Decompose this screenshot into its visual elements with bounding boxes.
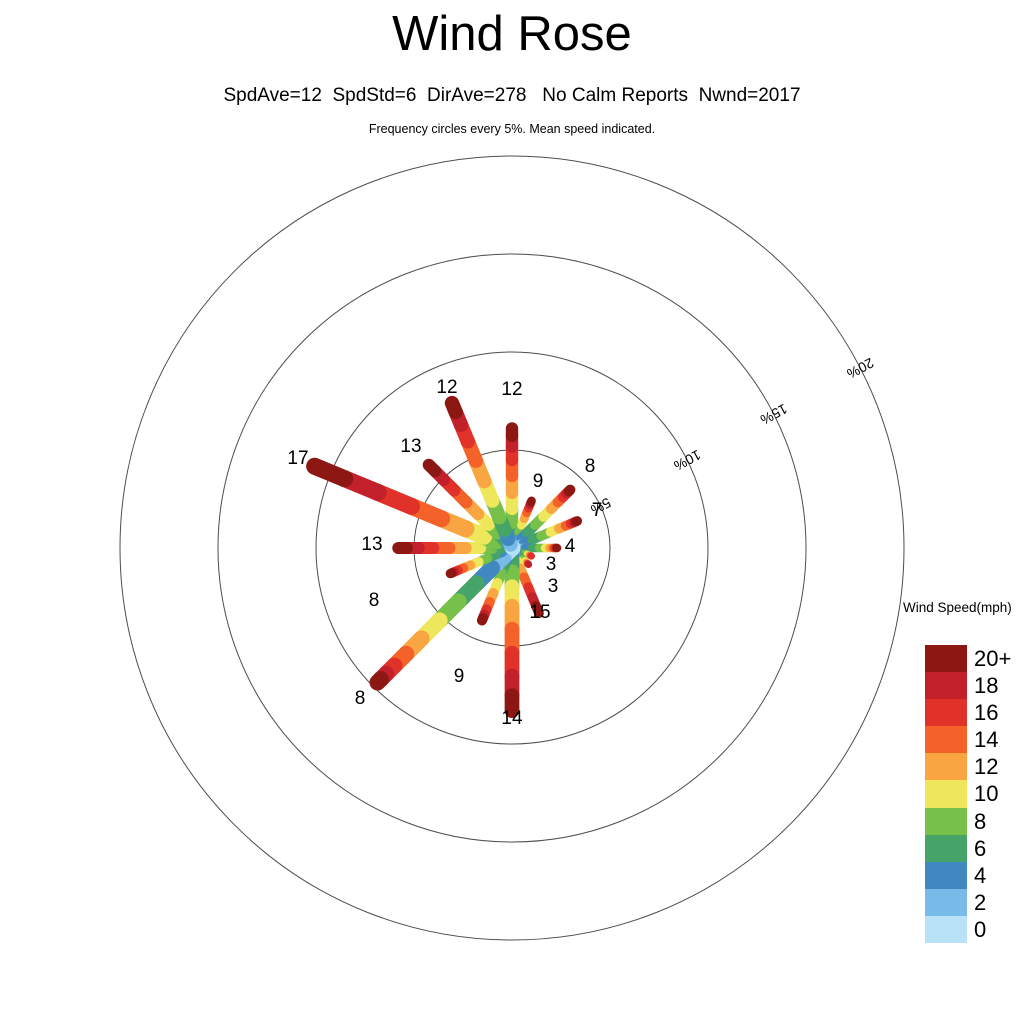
legend-label-2: 2: [972, 889, 1024, 916]
mean-speed-label-NNW: 12: [436, 377, 457, 398]
legend-color-bands: [925, 645, 967, 943]
mean-speed-label-SW: 8: [355, 688, 366, 709]
legend-swatch-4: [925, 862, 967, 889]
legend-swatch-18: [925, 672, 967, 699]
legend-swatch-0: [925, 916, 967, 943]
petal-SW: [378, 548, 512, 682]
legend-labels: 20+181614121086420: [972, 645, 1024, 943]
legend-label-4: 4: [972, 862, 1024, 889]
legend-swatch-8: [925, 808, 967, 835]
legend-swatch-16: [925, 699, 967, 726]
ring-label-15: 15%: [758, 401, 790, 428]
ring-percent-labels: 5%10%15%20%: [588, 355, 876, 518]
legend-label-10: 10: [972, 780, 1024, 807]
petal-segment: [315, 466, 345, 478]
legend-label-14: 14: [972, 726, 1024, 753]
legend-swatch-14: [925, 726, 967, 753]
legend-label-16: 16: [972, 699, 1024, 726]
mean-speed-label-SE: 3: [548, 576, 559, 597]
mean-speed-label-W: 13: [361, 534, 382, 555]
mean-speed-label-ENE: 7: [592, 500, 603, 521]
legend-label-12: 12: [972, 753, 1024, 780]
ring-label-10: 10%: [671, 447, 703, 474]
legend-swatch-20plus: [925, 645, 967, 672]
mean-speed-label-NE: 8: [585, 456, 596, 477]
petal-segment: [452, 403, 456, 412]
legend-label-0: 0: [972, 916, 1024, 943]
mean-speed-label-SSE: 15: [529, 602, 550, 623]
legend-swatch-12: [925, 753, 967, 780]
legend-title: Wind Speed(mph): [903, 600, 1012, 615]
mean-speed-label-N: 12: [501, 379, 522, 400]
petal-segment: [569, 490, 570, 491]
petal-segment: [482, 618, 483, 620]
legend-swatch-2: [925, 889, 967, 916]
legend-label-20plus: 20+: [972, 645, 1024, 672]
mean-speed-label-WNW: 17: [287, 448, 308, 469]
mean-speed-label-WSW: 8: [369, 590, 380, 611]
legend-label-18: 18: [972, 672, 1024, 699]
mean-speed-label-S: 14: [501, 708, 523, 729]
ring-label-20: 20%: [844, 355, 876, 382]
wind-rose-plot: 5%10%15%20% 12987433151498813171312: [0, 0, 1024, 1024]
petal-segment: [450, 573, 451, 574]
mean-speed-label-SSW: 9: [454, 666, 465, 687]
petal-segment: [576, 521, 577, 522]
legend-label-6: 6: [972, 835, 1024, 862]
petal-segment: [429, 465, 435, 471]
mean-speed-label-E: 4: [565, 536, 576, 557]
legend-swatch-6: [925, 835, 967, 862]
legend-label-8: 8: [972, 808, 1024, 835]
mean-speed-label-ESE: 3: [546, 554, 557, 575]
legend-swatch-10: [925, 780, 967, 807]
petal-segment: [531, 501, 532, 502]
mean-speed-label-NW: 13: [400, 436, 421, 457]
mean-speed-label-NNE: 9: [533, 471, 544, 492]
petal-segment: [378, 679, 381, 682]
